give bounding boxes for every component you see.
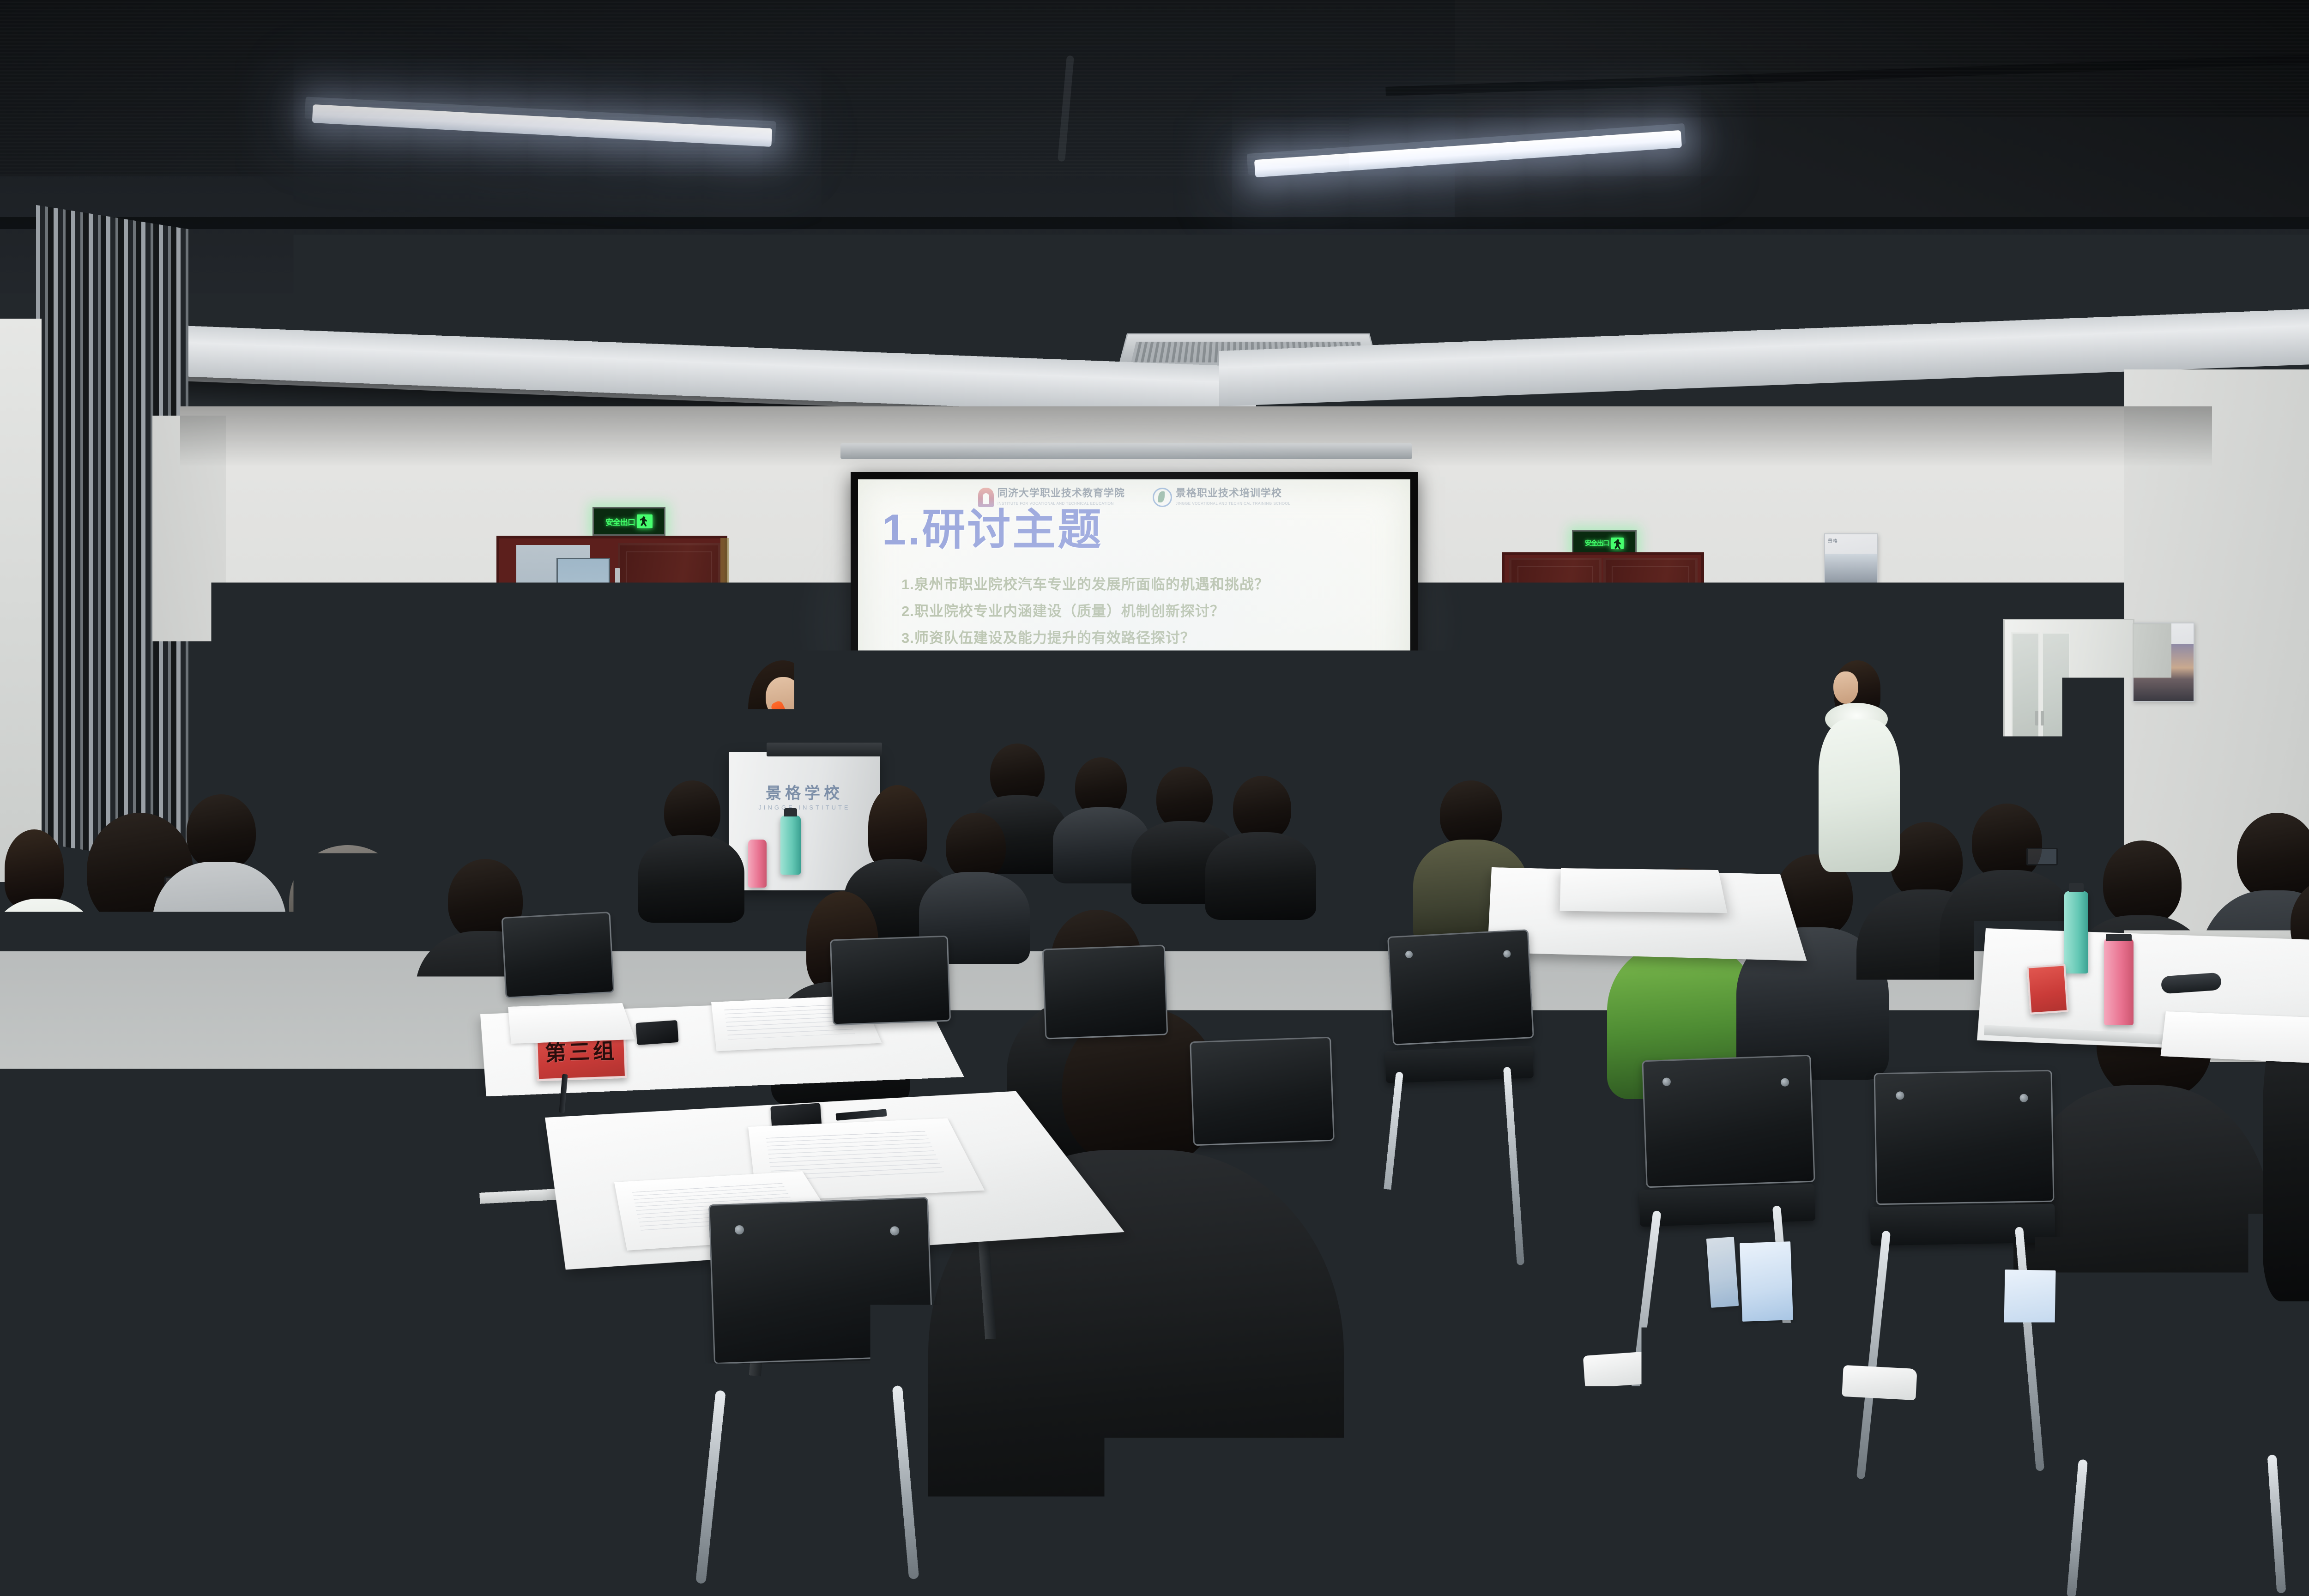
conference-tote-bag — [2003, 1270, 2055, 1354]
water-bottle[interactable] — [748, 840, 767, 888]
chair[interactable] — [1387, 929, 1534, 1046]
poster-classroom-photo: 景格 — [1824, 533, 1878, 609]
chair[interactable] — [1190, 1037, 1335, 1146]
left-wall-return — [0, 319, 42, 882]
flipchart-easel[interactable] — [1642, 653, 1762, 796]
chair[interactable] — [502, 912, 615, 998]
smartphone-camera[interactable] — [371, 718, 406, 741]
chair-seat — [148, 1519, 416, 1566]
slide-topic-item: 5.现代职业院校品牌特色打造的路径与方法？ — [901, 680, 1392, 701]
side-table — [1560, 868, 1728, 913]
tongji-logo-cn: 同济大学职业技术教育学院 — [997, 487, 1125, 499]
conference-tote-bag — [1706, 1237, 1739, 1308]
red-sneaker — [1934, 1384, 2014, 1419]
tongji-institute-logo: 同济大学职业技术教育学院 INSTITUTE FOR VOCATIONAL AN… — [978, 488, 1125, 507]
slide-topic-item: 4.新常态下，如何探索校企合作新模式？ — [901, 653, 1392, 674]
table-group-card-right — [2026, 964, 2068, 1015]
running-person-icon — [637, 514, 653, 528]
door-handle-right-a[interactable] — [1580, 772, 1601, 776]
chair[interactable] — [1874, 1070, 2055, 1205]
whiteboard-marker[interactable] — [2170, 745, 2204, 750]
lectern-top-laptop — [767, 743, 882, 756]
exit-label-right: 安全出口 — [1585, 538, 1609, 548]
water-bottle[interactable] — [2064, 891, 2088, 973]
red-sneaker — [2041, 1366, 2116, 1399]
slide-topic-list: 1.泉州市职业院校汽车专业的发展所面临的机遇和挑战？ 2.职业院校专业内涵建设（… — [883, 573, 1392, 781]
door-hinge-right-top-b — [1696, 586, 1700, 605]
slide-topic-item: 1.泉州市职业院校汽车专业的发展所面临的机遇和挑战？ — [901, 573, 1392, 593]
corridor-window — [556, 558, 610, 699]
ceiling-dark-bay — [1455, 0, 2309, 217]
presentation-slide: 同济大学职业技术教育学院 INSTITUTE FOR VOCATIONAL AN… — [858, 479, 1410, 784]
chair[interactable] — [830, 936, 951, 1026]
ceiling-beam — [0, 217, 2309, 229]
eyeglasses — [2026, 848, 2058, 865]
slide-topic-item: 2.职业院校专业内涵建设（质量）机制创新探讨？ — [901, 599, 1392, 620]
paper-sheet — [2160, 1011, 2309, 1064]
slide-logo-row: 同济大学职业技术教育学院 INSTITUTE FOR VOCATIONAL AN… — [858, 488, 1410, 507]
conference-tote-bag — [1740, 1241, 1793, 1322]
jingge-logo-en: JINGGE VOCATIONAL AND TECHNICAL TRAINING… — [1176, 502, 1290, 506]
chair[interactable] — [1042, 944, 1168, 1039]
slide-title: 1.研讨主题 — [882, 508, 1103, 551]
paper-cup[interactable] — [1594, 1307, 1614, 1336]
tongji-mark-icon — [978, 488, 994, 507]
paper-sheet — [508, 1003, 635, 1044]
attendee-standing-white-coat — [1815, 660, 1903, 877]
white-puffer-coat — [1819, 719, 1900, 872]
chair-seat — [1639, 1184, 1816, 1227]
jingge-logo-cn: 景格职业技术培训学校 — [1176, 487, 1282, 499]
sneaker — [1842, 1365, 1917, 1400]
door-handle-right-b[interactable] — [1605, 772, 1626, 776]
seminar-room-photo: 景格 职业技术培训 教学现场实录 景格学校 安全出口 安全出口 — [0, 0, 2309, 1596]
door-hinge-left-top — [615, 568, 620, 589]
chair[interactable] — [1642, 1055, 1815, 1188]
running-person-icon-right — [1611, 538, 1624, 549]
attendee — [1205, 776, 1316, 905]
sneaker — [1583, 1350, 1663, 1388]
water-bottle[interactable] — [780, 816, 801, 875]
slide-topic-item: 6.职业院校实验实训资源建设面临的困境与解决方案探讨？ — [901, 707, 1392, 727]
door-hinge-left-bottom — [615, 720, 620, 742]
exit-label-left: 安全出口 — [605, 516, 635, 527]
chair-seat — [1385, 1046, 1534, 1083]
jingge-mark-icon — [1153, 488, 1172, 507]
chair[interactable] — [2077, 1273, 2304, 1432]
jingge-school-logo: 景格职业技术培训学校 JINGGE VOCATIONAL AND TECHNIC… — [1153, 488, 1290, 507]
chair[interactable] — [149, 1335, 417, 1522]
slide-topic-item: 3.师资队伍建设及能力提升的有效路径探讨？ — [901, 626, 1392, 647]
chair[interactable] — [708, 1197, 934, 1364]
attendee-photographer — [342, 730, 416, 827]
poster-caption: 景格 — [1828, 537, 1838, 544]
paper-cup[interactable] — [672, 1325, 701, 1365]
door-hinge-right-top — [1506, 586, 1511, 605]
door-handle-left[interactable] — [623, 725, 649, 729]
projector-screen-case — [840, 443, 1412, 459]
chair-seat — [1870, 1204, 2055, 1246]
projection-screen: 同济大学职业技术教育学院 INSTITUTE FOR VOCATIONAL AN… — [851, 472, 1418, 792]
smartphone-on-table[interactable] — [635, 1020, 678, 1045]
thermos-bottle[interactable] — [2104, 938, 2134, 1025]
emergency-exit-sign-left: 安全出口 — [592, 507, 665, 536]
paper-cup[interactable] — [544, 1434, 574, 1477]
